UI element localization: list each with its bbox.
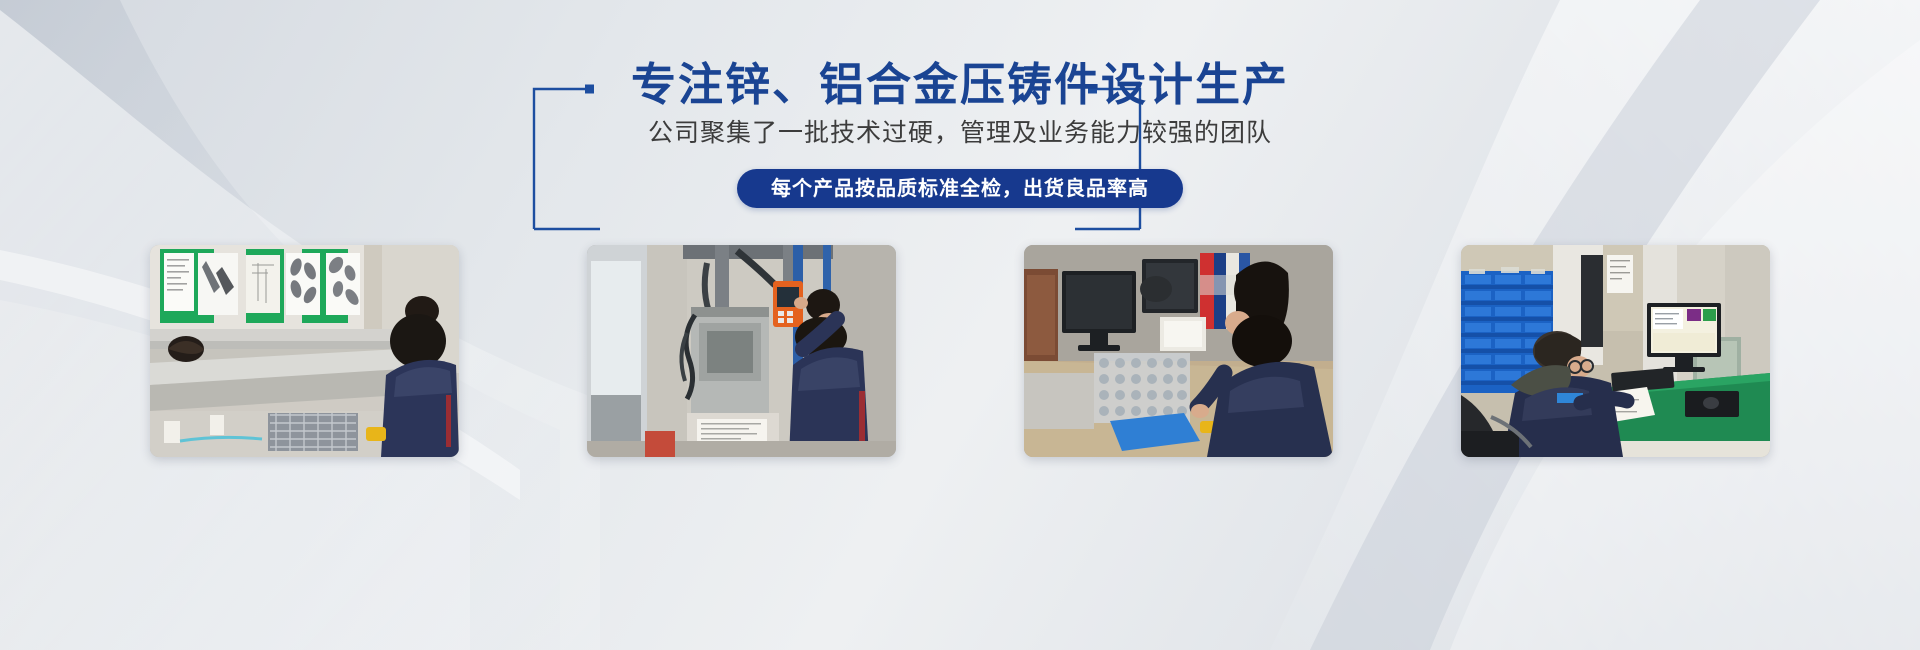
photo-1-art [150,245,459,457]
photo-strip [150,245,1770,457]
photo-3-art [1024,245,1333,457]
photo-die-casting-machine-operator[interactable] [587,245,896,457]
quality-promise-badge[interactable]: 每个产品按品质标准全检，出货良品率高 [737,169,1183,208]
photo-2-art [587,245,896,457]
photo-quality-check-packing[interactable] [1024,245,1333,457]
photo-warehouse-shelving-inspection[interactable] [150,245,459,457]
photo-office-computer-workstation[interactable] [1461,245,1770,457]
pill-container: 每个产品按品质标准全检，出货良品率高 [0,169,1920,208]
page-subtitle: 公司聚集了一批技术过硬，管理及业务能力较强的团队 [0,115,1920,151]
page-title: 专注锌、铝合金压铸件设计生产 [0,57,1920,113]
photo-4-art [1461,245,1770,457]
banner-root: 专注锌、铝合金压铸件设计生产 公司聚集了一批技术过硬，管理及业务能力较强的团队 … [0,0,1920,650]
